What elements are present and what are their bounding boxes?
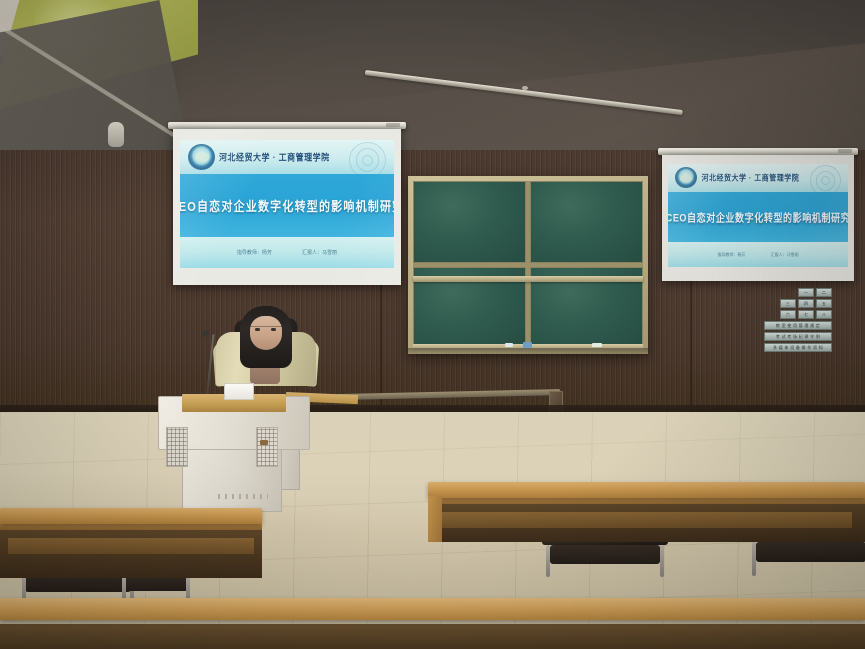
plaque: 五 xyxy=(816,299,832,308)
desk-surface xyxy=(0,598,865,620)
desk-modesty-panel xyxy=(441,512,852,528)
plaque: 一 xyxy=(798,288,814,297)
desk-modesty-panel xyxy=(8,538,254,554)
plaque-row: 教 室 使 用 管 理 规 定 xyxy=(762,321,832,330)
plaque: 考 试 考 场 纪 律 守 则 xyxy=(764,332,832,341)
projector-screen-roller-icon xyxy=(168,122,406,129)
lecture-hall-photo: 河北经贸大学 · 工商管理学院 CEO自恋对企业数字化转型的影响机制研究 指导教… xyxy=(0,0,865,649)
presentation-slide-right: 河北经贸大学 · 工商管理学院 CEO自恋对企业数字化转型的影响机制研究 指导教… xyxy=(668,164,848,267)
desk-front-panel xyxy=(0,624,865,649)
slide-header-band: 河北经贸大学 · 工商管理学院 xyxy=(180,140,395,175)
school-emblem-watermark-icon xyxy=(349,142,386,179)
wall-notice-plaques: 一 二 三 四 五 六 七 八 教 室 使 用 管 理 规 定 考 试 考 场 … xyxy=(762,288,832,350)
microphone-head xyxy=(202,330,209,337)
university-seal-icon xyxy=(675,167,698,188)
podium-knob xyxy=(260,440,268,445)
slide-school-name: 河北经贸大学 · 工商管理学院 xyxy=(701,172,799,184)
chair-seat xyxy=(756,542,865,562)
plaque-row: 一 二 xyxy=(762,288,832,297)
chair-leg xyxy=(660,545,664,577)
plaque-row: 考 试 考 场 纪 律 守 则 xyxy=(762,332,832,341)
chair-leg xyxy=(546,545,550,577)
roller-end-cap xyxy=(386,123,400,127)
desk-edge xyxy=(0,523,262,530)
slide-title: CEO自恋对企业数字化转型的影响机制研究 xyxy=(668,209,848,225)
slide-title-band: CEO自恋对企业数字化转型的影响机制研究 xyxy=(180,174,395,237)
presenter-eye-left xyxy=(255,328,260,331)
roller-end-cap xyxy=(838,149,852,153)
slide-footer-band: 指导教师：杨芳 汇报人：马雪丽 xyxy=(668,242,848,267)
light-fixture-joint xyxy=(522,86,528,90)
screen-surface-left: 河北经贸大学 · 工商管理学院 CEO自恋对企业数字化转型的影响机制研究 指导教… xyxy=(173,129,401,285)
chalk-piece xyxy=(505,343,513,347)
projection-screen-right: 河北经贸大学 · 工商管理学院 CEO自恋对企业数字化转型的影响机制研究 指导教… xyxy=(658,148,858,281)
plaque-row: 多 媒 体 设 备 操 作 须 知 xyxy=(762,343,832,352)
wall-sconce-icon xyxy=(108,122,124,147)
desk-foreground xyxy=(0,598,865,649)
chair-leg xyxy=(752,542,756,576)
presentation-slide-left: 河北经贸大学 · 工商管理学院 CEO自恋对企业数字化转型的影响机制研究 指导教… xyxy=(180,140,395,268)
desk-middle-row xyxy=(428,482,865,542)
projection-screen-left: 河北经贸大学 · 工商管理学院 CEO自恋对企业数字化转型的影响机制研究 指导教… xyxy=(168,122,406,285)
plaque: 多 媒 体 设 备 操 作 须 知 xyxy=(764,343,832,352)
podium xyxy=(158,372,310,512)
slide-title-band: CEO自恋对企业数字化转型的影响机制研究 xyxy=(668,192,848,243)
slide-footer-band: 指导教师：杨芳 汇报人：马雪丽 xyxy=(180,237,395,268)
podium-speaker-grille-left xyxy=(166,427,188,467)
desk-front-left xyxy=(0,508,262,578)
plaque-row: 三 四 五 xyxy=(762,299,832,308)
desk-edge xyxy=(428,497,865,504)
blackboard-panel xyxy=(413,181,526,263)
podium-paper-notes xyxy=(224,383,254,400)
podium-ventilation-dots xyxy=(218,494,268,499)
plaque: 二 xyxy=(816,288,832,297)
slide-advisor: 指导教师：杨芳 xyxy=(717,252,745,258)
chalk-piece xyxy=(592,343,602,347)
projector-screen-roller-icon xyxy=(658,148,858,155)
desk-surface xyxy=(428,482,865,498)
podium-speaker-grille-right xyxy=(256,427,278,467)
plaque-row: 六 七 八 xyxy=(762,310,832,319)
slide-header-band: 河北经贸大学 · 工商管理学院 xyxy=(668,164,848,192)
chair-seat xyxy=(550,545,661,564)
blackboard-panels xyxy=(413,181,643,349)
blackboard-middle-tray xyxy=(413,276,643,282)
plaque: 四 xyxy=(798,299,814,308)
blackboard xyxy=(408,176,648,354)
presenter-eye-right xyxy=(271,328,276,331)
screen-surface-right: 河北经贸大学 · 工商管理学院 CEO自恋对企业数字化转型的影响机制研究 指导教… xyxy=(662,155,854,281)
slide-advisor: 指导教师：杨芳 xyxy=(237,249,272,256)
plaque: 六 xyxy=(780,310,796,319)
plaque: 七 xyxy=(798,310,814,319)
desk-side-panel xyxy=(428,496,442,542)
blackboard-panel xyxy=(530,181,643,263)
slide-school-name: 河北经贸大学 · 工商管理学院 xyxy=(219,151,330,164)
plaque: 八 xyxy=(816,310,832,319)
slide-title: CEO自恋对企业数字化转型的影响机制研究 xyxy=(180,196,395,215)
blackboard-shadow xyxy=(408,348,648,358)
desk-surface xyxy=(0,508,262,524)
plaque: 三 xyxy=(780,299,796,308)
university-seal-icon xyxy=(188,144,215,170)
slide-presenter: 汇报人：马雪丽 xyxy=(771,252,799,258)
wood-wall-seam xyxy=(690,280,692,420)
slide-presenter: 汇报人：马雪丽 xyxy=(302,249,337,256)
plaque: 教 室 使 用 管 理 规 定 xyxy=(764,321,832,330)
